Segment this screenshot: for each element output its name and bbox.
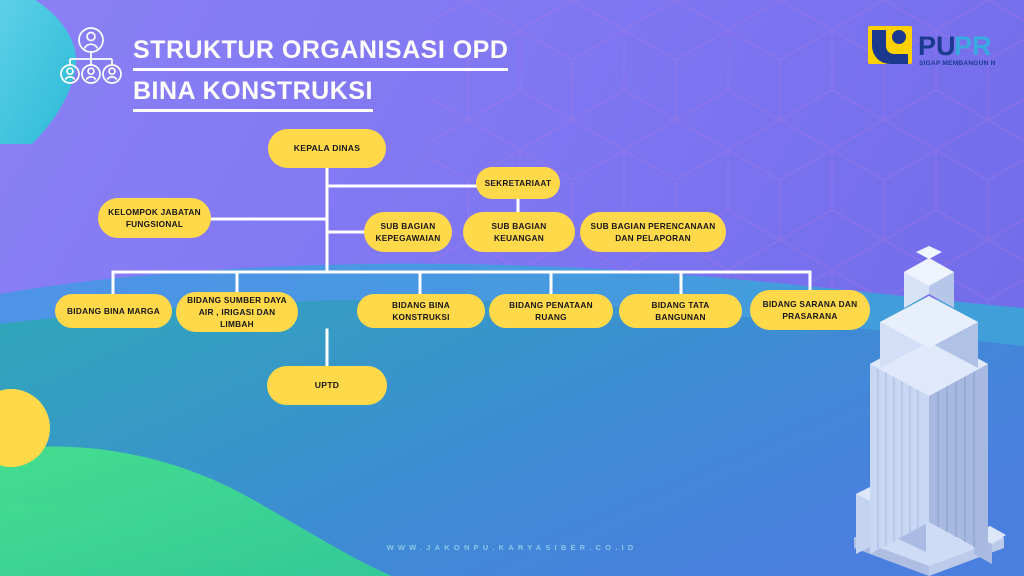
node-label: SUB BAGIAN PERENCANAAN DAN PELAPORAN: [588, 220, 718, 244]
node-sub-bagian-perencanaan-pelaporan[interactable]: SUB BAGIAN PERENCANAAN DAN PELAPORAN: [580, 212, 726, 252]
node-kepala-dinas[interactable]: KEPALA DINAS: [268, 129, 386, 168]
node-bidang-penataan-ruang[interactable]: BIDANG PENATAAN RUANG: [489, 294, 613, 328]
node-label: SUB BAGIAN KEPEGAWAIAN: [372, 220, 444, 244]
node-kelompok-jabatan-fungsional[interactable]: KELOMPOK JABATAN FUNGSIONAL: [98, 198, 211, 238]
node-label: KEPALA DINAS: [294, 142, 361, 154]
slide-canvas: STRUKTUR ORGANISASI OPD BINA KONSTRUKSI …: [0, 0, 1024, 576]
chart-connector-lines: [0, 0, 1024, 576]
node-bidang-tata-bangunan[interactable]: BIDANG TATA BANGUNAN: [619, 294, 742, 328]
node-label: BIDANG SUMBER DAYA AIR , IRIGASI DAN LIM…: [184, 294, 290, 330]
node-label: SUB BAGIAN KEUANGAN: [471, 220, 567, 244]
node-sub-bagian-kepegawaian[interactable]: SUB BAGIAN KEPEGAWAIAN: [364, 212, 452, 252]
node-uptd[interactable]: UPTD: [267, 366, 387, 405]
node-bidang-sumber-daya-air[interactable]: BIDANG SUMBER DAYA AIR , IRIGASI DAN LIM…: [176, 292, 298, 332]
node-bidang-bina-konstruksi[interactable]: BIDANG BINA KONSTRUKSI: [357, 294, 485, 328]
node-bidang-sarana-prasarana[interactable]: BIDANG SARANA DAN PRASARANA: [750, 290, 870, 330]
node-sub-bagian-keuangan[interactable]: SUB BAGIAN KEUANGAN: [463, 212, 575, 252]
footer-website-url: WWW.JAKONPU.KARYASIBER.CO.ID: [0, 543, 1024, 552]
node-label: BIDANG SARANA DAN PRASARANA: [758, 298, 862, 322]
node-sekretariat[interactable]: SEKRETARIAAT: [476, 167, 560, 199]
node-label: BIDANG BINA MARGA: [67, 305, 160, 317]
node-label: BIDANG TATA BANGUNAN: [627, 299, 734, 323]
node-label: KELOMPOK JABATAN FUNGSIONAL: [106, 206, 203, 230]
node-label: BIDANG BINA KONSTRUKSI: [365, 299, 477, 323]
node-label: UPTD: [315, 379, 339, 391]
node-label: SEKRETARIAAT: [485, 177, 552, 189]
node-label: BIDANG PENATAAN RUANG: [497, 299, 605, 323]
node-bidang-bina-marga[interactable]: BIDANG BINA MARGA: [55, 294, 172, 328]
